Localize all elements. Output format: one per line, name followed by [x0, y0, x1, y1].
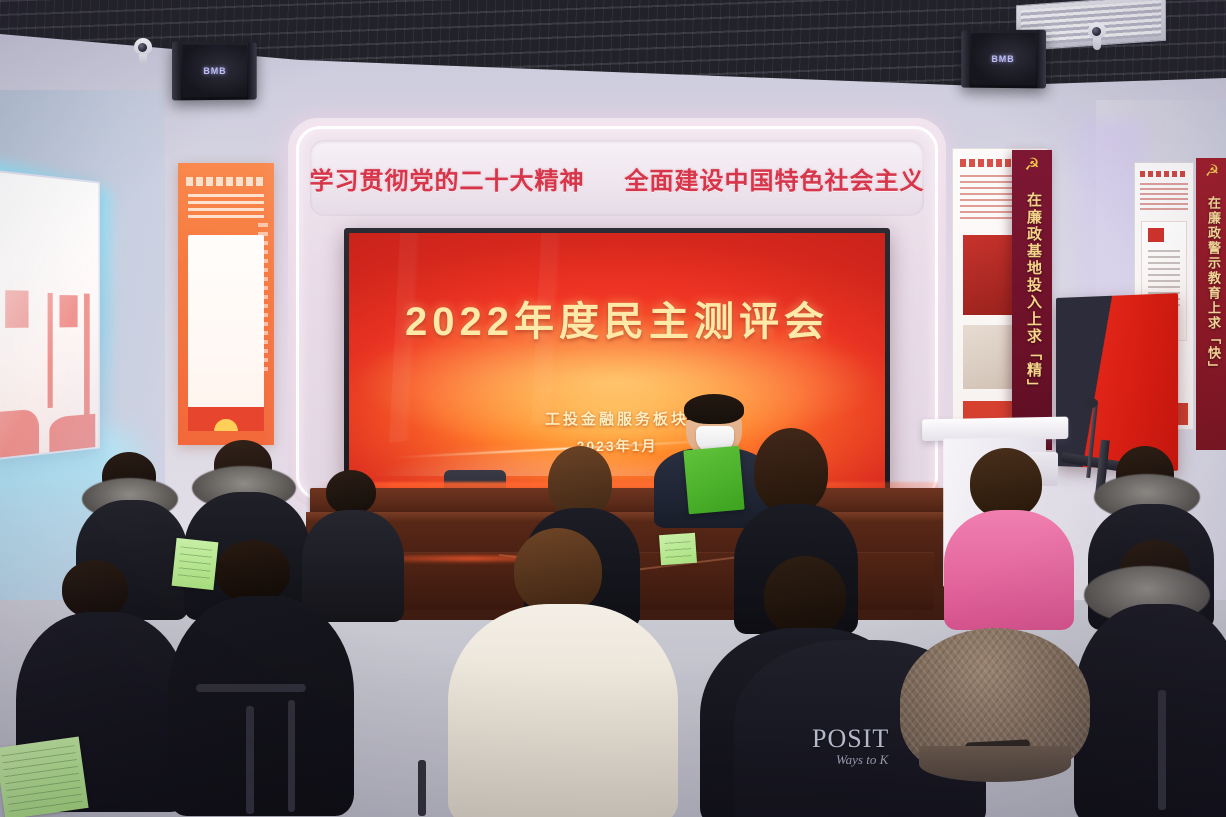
slogan-right: 全面建设中国特色社会主义: [625, 161, 925, 196]
header-slogan-sign: 学习贯彻党的二十大精神 全面建设中国特色社会主义: [310, 140, 924, 216]
party-emblem-icon: ☭: [1024, 156, 1039, 173]
chair-leg: [288, 700, 295, 812]
party-emblem-icon: ☭: [1205, 164, 1219, 180]
chair-leg: [418, 760, 426, 816]
green-document-folder: [683, 446, 744, 515]
conference-room-photo: BMB BMB 学习贯彻党的二十大精神 全面建设中国特色社会主义: [0, 0, 1226, 817]
orange-wall-poster: [178, 163, 274, 445]
knitted-cap: [900, 628, 1090, 778]
chair-leg: [1158, 690, 1166, 810]
presentation-subtitle: 工投金融服务板块: [349, 408, 885, 429]
speaker-brand-label: BMB: [991, 54, 1014, 64]
chair-rail: [196, 684, 306, 692]
left-wall-display-panel: [0, 170, 100, 460]
maroon-vertical-banner: ☭ 在廉政基地投入上求「精」: [1012, 150, 1052, 450]
chair-leg: [246, 706, 254, 814]
evaluation-form: [659, 533, 697, 565]
microphone-icon: [1084, 398, 1098, 408]
red-banner-text: 在廉政警示教育上求「快」: [1202, 196, 1222, 376]
slogan-left: 学习贯彻党的二十大精神: [310, 161, 585, 196]
evaluation-form: [172, 538, 219, 590]
side-display-monitor: [1056, 293, 1178, 471]
speaker-brand-label: BMB: [203, 66, 226, 76]
red-vertical-banner: ☭ 在廉政警示教育上求「快」: [1196, 158, 1226, 450]
jacket-tagline-text: Ways to K: [836, 752, 888, 768]
dome-camera-icon: [1086, 22, 1108, 52]
presentation-title: 2022年度民主测评会: [349, 289, 885, 347]
ceiling-speaker-icon: BMB: [961, 30, 1046, 89]
dome-camera-icon: [132, 38, 154, 68]
maroon-banner-text: 在廉政基地投入上求「精」: [1021, 192, 1043, 396]
head-table-top: [310, 488, 946, 514]
ceiling-speaker-icon: BMB: [172, 42, 257, 101]
evaluation-form: [0, 737, 89, 817]
